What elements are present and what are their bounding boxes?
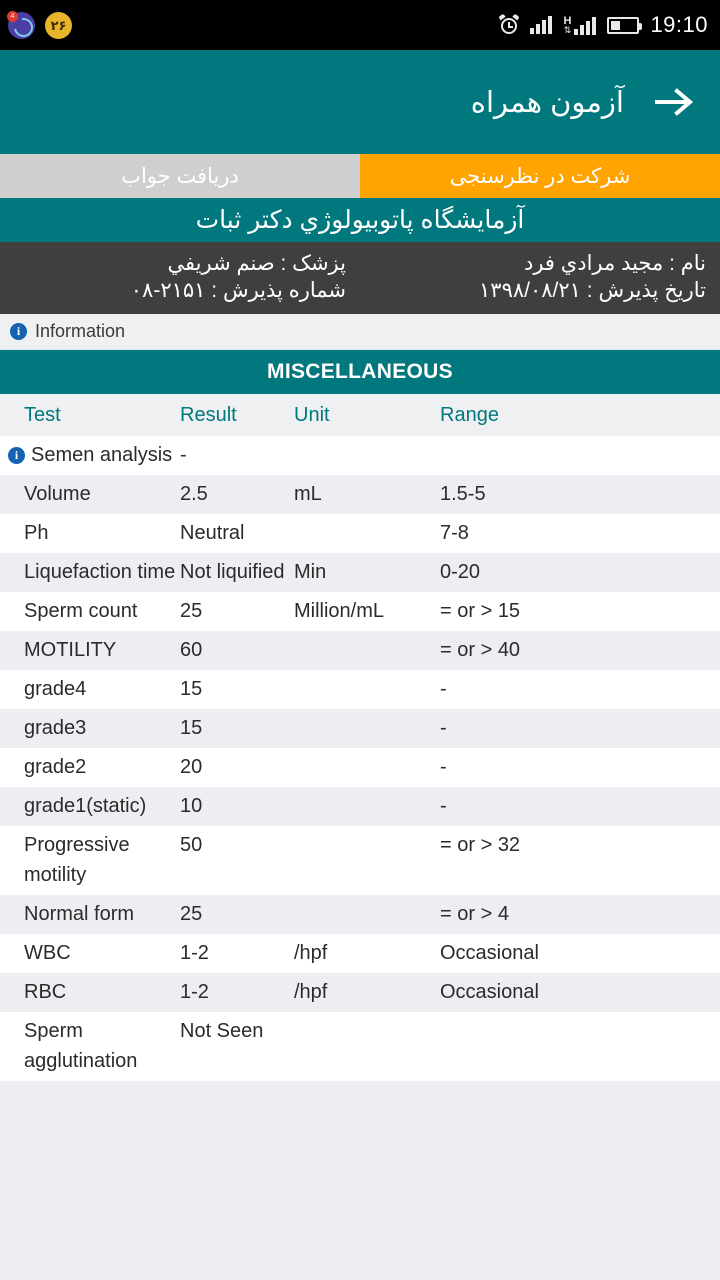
tab-participate-survey[interactable]: شرکت در نظرسنجی — [360, 154, 720, 198]
table-row: Normal form25= or > 4 — [0, 895, 720, 934]
column-header-test: Test — [0, 404, 180, 427]
cell-unit: Million/mL — [294, 596, 440, 626]
cell-test: grade3 — [0, 713, 180, 743]
status-bar-clock: 19:10 — [650, 12, 708, 38]
page-filler — [0, 1081, 720, 1280]
cell-unit: Min — [294, 557, 440, 587]
mobile-data-icon: H ⇅ — [563, 16, 596, 35]
table-body: iSemen analysis-Volume2.5mL1.5-5PhNeutra… — [0, 436, 720, 1081]
cell-test: Sperm agglutination — [0, 1016, 180, 1076]
cell-range: = or > 32 — [440, 830, 720, 860]
status-bar-system-icons: H ⇅ 19:10 — [499, 12, 708, 38]
table-row: grade315- — [0, 709, 720, 748]
cell-result: 15 — [180, 713, 294, 743]
table-row: Liquefaction timeNot liquifiedMin0-20 — [0, 553, 720, 592]
results-table: Test Result Unit Range iSemen analysis-V… — [0, 394, 720, 1081]
lab-name-bar: آزمایشگاه پاتوبیولوژي دکتر ثبات — [0, 198, 720, 242]
cell-result: 15 — [180, 674, 294, 704]
information-bar[interactable]: i Information — [0, 314, 720, 350]
column-header-unit: Unit — [294, 404, 440, 427]
table-row: PhNeutral7-8 — [0, 514, 720, 553]
arrow-right-icon — [653, 87, 695, 117]
patient-name: نام : مجید مرادي فرد — [346, 251, 706, 276]
cell-range: 7-8 — [440, 518, 720, 548]
patient-info-row-2: تاریخ پذیرش : ۱۳۹۸/۰۸/۲۱ شماره پذیرش : ۲… — [14, 278, 706, 303]
counter-badge-icon: ۲۶ — [45, 12, 72, 39]
cell-range: = or > 4 — [440, 899, 720, 929]
signal-bars-icon — [530, 16, 552, 34]
information-label: Information — [35, 321, 125, 342]
cell-test: MOTILITY — [0, 635, 180, 665]
action-bar: آزمون همراه — [0, 50, 720, 154]
table-row: WBC1-2/hpfOccasional — [0, 934, 720, 973]
patient-admission-date: تاریخ پذیرش : ۱۳۹۸/۰۸/۲۱ — [346, 278, 706, 303]
table-row: Sperm count25Million/mL= or > 15 — [0, 592, 720, 631]
cell-test: Sperm count — [0, 596, 180, 626]
cell-result: 1-2 — [180, 938, 294, 968]
notification-badge: 4 — [7, 11, 18, 22]
table-row: grade415- — [0, 670, 720, 709]
network-type-label: H — [563, 16, 571, 26]
table-row: Sperm agglutinationNot Seen — [0, 1012, 720, 1081]
cell-test: grade2 — [0, 752, 180, 782]
cell-range: - — [440, 752, 720, 782]
status-bar: 4 ۲۶ H ⇅ 19:10 — [0, 0, 720, 50]
table-row: Volume2.5mL1.5-5 — [0, 475, 720, 514]
battery-icon — [607, 17, 639, 34]
back-button[interactable] — [646, 74, 702, 130]
tab-receive-answer[interactable]: دریافت جواب — [0, 154, 360, 198]
cell-test: Ph — [0, 518, 180, 548]
cell-test-label: Semen analysis — [31, 440, 172, 470]
cell-range: 1.5-5 — [440, 479, 720, 509]
cell-result: 60 — [180, 635, 294, 665]
cell-result: 1-2 — [180, 977, 294, 1007]
app-title: آزمون همراه — [471, 85, 624, 120]
info-icon: i — [10, 323, 27, 340]
patient-doctor: پزشک : صنم شریفي — [14, 251, 346, 276]
cell-result: 20 — [180, 752, 294, 782]
cell-test: iSemen analysis — [0, 440, 180, 470]
table-header-row: Test Result Unit Range — [0, 394, 720, 436]
table-row-group[interactable]: iSemen analysis- — [0, 436, 720, 475]
messenger-app-icon: 4 — [8, 12, 35, 39]
patient-info-panel: نام : مجید مرادي فرد پزشک : صنم شریفي تا… — [0, 242, 720, 314]
cell-result: 2.5 — [180, 479, 294, 509]
cell-range: Occasional — [440, 977, 720, 1007]
cell-test: Volume — [0, 479, 180, 509]
alarm-icon — [499, 15, 519, 35]
cell-test: Progressive motility — [0, 830, 180, 890]
cell-test: Liquefaction time — [0, 557, 180, 587]
cell-test: grade1(static) — [0, 791, 180, 821]
patient-info-row-1: نام : مجید مرادي فرد پزشک : صنم شریفي — [14, 251, 706, 276]
cell-unit: /hpf — [294, 977, 440, 1007]
column-header-result: Result — [180, 404, 294, 427]
cell-result: 10 — [180, 791, 294, 821]
app-root: 4 ۲۶ H ⇅ 19:10 — [0, 0, 720, 1280]
cell-test: grade4 — [0, 674, 180, 704]
cell-result: 25 — [180, 899, 294, 929]
cell-result: 50 — [180, 830, 294, 860]
table-row: Progressive motility50= or > 32 — [0, 826, 720, 895]
cell-range: - — [440, 674, 720, 704]
cell-result: Neutral — [180, 518, 294, 548]
cell-range: 0-20 — [440, 557, 720, 587]
table-row: grade1(static)10- — [0, 787, 720, 826]
table-row: grade220- — [0, 748, 720, 787]
cell-range: Occasional — [440, 938, 720, 968]
data-transfer-arrows-icon: ⇅ — [564, 26, 572, 35]
tab-bar: شرکت در نظرسنجی دریافت جواب — [0, 154, 720, 198]
cell-result: - — [180, 440, 294, 470]
table-row: MOTILITY60= or > 40 — [0, 631, 720, 670]
patient-admission-number: شماره پذیرش : ۲۱۵۱-۰۸ — [14, 278, 346, 303]
cell-test: Normal form — [0, 899, 180, 929]
table-row: RBC1-2/hpfOccasional — [0, 973, 720, 1012]
cell-unit: /hpf — [294, 938, 440, 968]
status-bar-notifications: 4 ۲۶ — [8, 12, 72, 39]
section-title: MISCELLANEOUS — [267, 360, 453, 384]
section-header: MISCELLANEOUS — [0, 350, 720, 394]
cell-range: - — [440, 713, 720, 743]
cell-unit: mL — [294, 479, 440, 509]
cell-result: 25 — [180, 596, 294, 626]
column-header-range: Range — [440, 404, 720, 427]
cell-test: WBC — [0, 938, 180, 968]
lab-name: آزمایشگاه پاتوبیولوژي دکتر ثبات — [196, 205, 525, 235]
cell-range: = or > 40 — [440, 635, 720, 665]
cell-range: - — [440, 791, 720, 821]
cell-result: Not Seen — [180, 1016, 294, 1046]
info-icon[interactable]: i — [8, 447, 25, 464]
cell-result: Not liquified — [180, 557, 294, 587]
cell-test: RBC — [0, 977, 180, 1007]
cell-range: = or > 15 — [440, 596, 720, 626]
